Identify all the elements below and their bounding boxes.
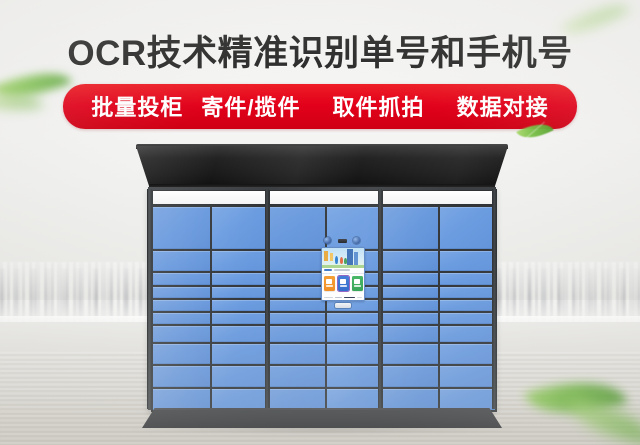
locker-door[interactable] xyxy=(212,273,269,284)
locker-door[interactable] xyxy=(440,207,495,249)
locker-door[interactable] xyxy=(153,207,210,249)
signage-panel-left xyxy=(152,190,268,205)
signage-panel-middle xyxy=(269,190,381,205)
box-icon xyxy=(354,279,360,284)
kiosk-panel xyxy=(318,236,366,310)
page-title: OCR技术精准识别单号和手机号 xyxy=(0,25,640,76)
locker-door[interactable] xyxy=(212,300,269,311)
locker-door[interactable] xyxy=(440,287,495,298)
locker-door[interactable] xyxy=(212,389,269,410)
locker-door[interactable] xyxy=(383,366,438,387)
locker-door[interactable] xyxy=(270,287,325,298)
locker-door[interactable] xyxy=(440,251,495,272)
locker-door[interactable] xyxy=(327,326,382,342)
locker-door[interactable] xyxy=(383,300,438,311)
footer-text-line xyxy=(344,297,355,299)
locker-door[interactable] xyxy=(383,326,438,342)
camera-icon xyxy=(324,237,331,244)
button-label xyxy=(326,285,333,287)
locker-door[interactable] xyxy=(440,300,495,311)
locker-door[interactable] xyxy=(440,273,495,284)
footer-text-line xyxy=(357,297,362,299)
locker-door[interactable] xyxy=(270,313,325,324)
card-slot[interactable] xyxy=(334,302,352,309)
illustration-person xyxy=(340,257,343,264)
illustration-shape xyxy=(354,252,358,265)
locker-door[interactable] xyxy=(212,207,269,249)
right-section xyxy=(381,205,497,412)
footer-text-line xyxy=(324,297,333,299)
notice-text-line xyxy=(334,269,350,271)
camera-row xyxy=(320,236,364,245)
illustration-shape xyxy=(330,253,333,261)
left-section xyxy=(151,205,271,412)
camera-icon xyxy=(353,237,360,244)
frame-pillar-right xyxy=(492,189,497,409)
feature-item-4: 数据对接 xyxy=(457,95,549,120)
screen-footer xyxy=(322,295,364,300)
locker-door[interactable] xyxy=(383,207,438,249)
illustration-shape xyxy=(347,249,353,265)
locker-door[interactable] xyxy=(440,326,495,342)
locker-door[interactable] xyxy=(327,313,382,324)
feature-banner-pill: 批量投柜寄件/揽件取件抓拍数据对接 xyxy=(63,84,576,129)
locker-door[interactable] xyxy=(153,326,210,342)
screen-action-buttons xyxy=(322,274,364,292)
canopy-highlight xyxy=(136,146,508,186)
locker-door[interactable] xyxy=(153,366,210,387)
locker-door[interactable] xyxy=(212,326,269,342)
button-label xyxy=(354,285,361,287)
cabinet-base xyxy=(142,408,502,428)
locker-door[interactable] xyxy=(383,287,438,298)
locker-door[interactable] xyxy=(270,207,325,249)
locker-door[interactable] xyxy=(440,366,495,387)
frame-pillar-1 xyxy=(265,189,269,409)
locker-door[interactable] xyxy=(383,251,438,272)
barcode-scanner-icon xyxy=(338,239,347,243)
feature-item-2: 寄件/揽件 xyxy=(201,95,300,120)
locker-door[interactable] xyxy=(440,389,495,410)
locker-door[interactable] xyxy=(440,313,495,324)
locker-door[interactable] xyxy=(153,344,210,365)
locker-door[interactable] xyxy=(383,344,438,365)
locker-door[interactable] xyxy=(270,273,325,284)
send-button[interactable] xyxy=(338,276,349,291)
locker-door[interactable] xyxy=(212,366,269,387)
illustration-shape xyxy=(324,251,328,261)
locker-door[interactable] xyxy=(212,287,269,298)
locker-door[interactable] xyxy=(270,389,325,410)
locker-door[interactable] xyxy=(440,344,495,365)
locker-door[interactable] xyxy=(383,389,438,410)
locker-door[interactable] xyxy=(327,389,382,410)
locker-door[interactable] xyxy=(270,251,325,272)
locker-door[interactable] xyxy=(270,326,325,342)
locker-door[interactable] xyxy=(270,300,325,311)
locker-door[interactable] xyxy=(212,251,269,272)
footer-text-line xyxy=(335,297,342,299)
locker-door[interactable] xyxy=(383,273,438,284)
courier-illustration xyxy=(322,248,364,268)
locker-door[interactable] xyxy=(153,251,210,272)
locker-door[interactable] xyxy=(153,313,210,324)
locker-door[interactable] xyxy=(153,273,210,284)
feature-item-1: 批量投柜 xyxy=(91,95,183,120)
notice-text-line xyxy=(324,269,332,271)
locker-door[interactable] xyxy=(270,366,325,387)
button-label xyxy=(340,285,347,287)
locker-door[interactable] xyxy=(153,300,210,311)
locker-door[interactable] xyxy=(212,313,269,324)
promo-banner-image: OCR技术精准识别单号和手机号 批量投柜寄件/揽件取件抓拍数据对接 xyxy=(0,0,640,445)
frame-pillar-left xyxy=(147,189,152,409)
feature-banner: 批量投柜寄件/揽件取件抓拍数据对接 xyxy=(0,84,640,129)
feature-item-3: 取件抓拍 xyxy=(333,95,425,120)
deposit-button[interactable] xyxy=(324,276,335,291)
signage-panel-right xyxy=(382,190,494,205)
locker-door[interactable] xyxy=(327,344,382,365)
frame-pillar-2 xyxy=(378,189,382,409)
locker-door[interactable] xyxy=(383,313,438,324)
pickup-button[interactable] xyxy=(352,276,363,291)
locker-door[interactable] xyxy=(327,366,382,387)
illustration-person xyxy=(335,256,338,264)
locker-door[interactable] xyxy=(212,344,269,365)
locker-door[interactable] xyxy=(270,344,325,365)
kiosk-screen[interactable] xyxy=(321,247,365,301)
illustration-person xyxy=(344,258,347,264)
locker-door[interactable] xyxy=(153,389,210,410)
canopy-roof xyxy=(136,146,508,186)
parcel-icon xyxy=(326,279,332,284)
locker-door[interactable] xyxy=(153,287,210,298)
envelope-icon xyxy=(340,279,346,284)
